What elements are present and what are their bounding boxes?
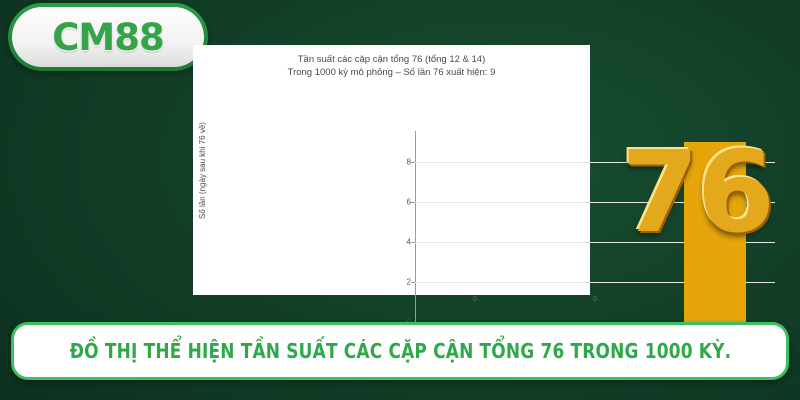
poster-canvas: CM88 76 Tần suất các cặp cận tổng 76 (tổ… — [0, 0, 800, 400]
cm88-logo: CM88 — [8, 3, 208, 71]
logo-text: CM88 — [52, 19, 163, 56]
y-axis-tick-label: 8 — [389, 158, 411, 167]
chart-title-block: Tần suất các cặp cận tổng 76 (tổng 12 & … — [193, 53, 590, 79]
chart-subtitle: Trong 1000 kỳ mô phỏng – Số lần 76 xuất … — [193, 66, 590, 79]
chart-panel: Tần suất các cặp cận tổng 76 (tổng 12 & … — [193, 45, 590, 295]
y-axis-tick-label: 4 — [389, 238, 411, 247]
bar-value-label: 0 — [473, 296, 477, 303]
gold-76-graphic: 76 — [598, 132, 796, 254]
bar-value-label: 0 — [593, 296, 597, 303]
y-axis-tick-label: 2 — [389, 278, 411, 287]
caption-text: ĐỒ THỊ THỂ HIỆN TẦN SUẤT CÁC CẶP CẬN TỔN… — [69, 339, 730, 363]
logo-plate: CM88 — [12, 7, 204, 67]
chart-title: Tần suất các cặp cận tổng 76 (tổng 12 & … — [298, 54, 485, 65]
caption-bar: ĐỒ THỊ THỂ HIỆN TẦN SUẤT CÁC CẶP CẬN TỔN… — [11, 322, 789, 380]
y-axis-tick-label: 6 — [389, 198, 411, 207]
y-axis-label-text: Số lần (ngày sau khi 76 về) — [198, 122, 207, 219]
y-axis-label: Số lần (ngày sau khi 76 về) — [195, 45, 209, 295]
